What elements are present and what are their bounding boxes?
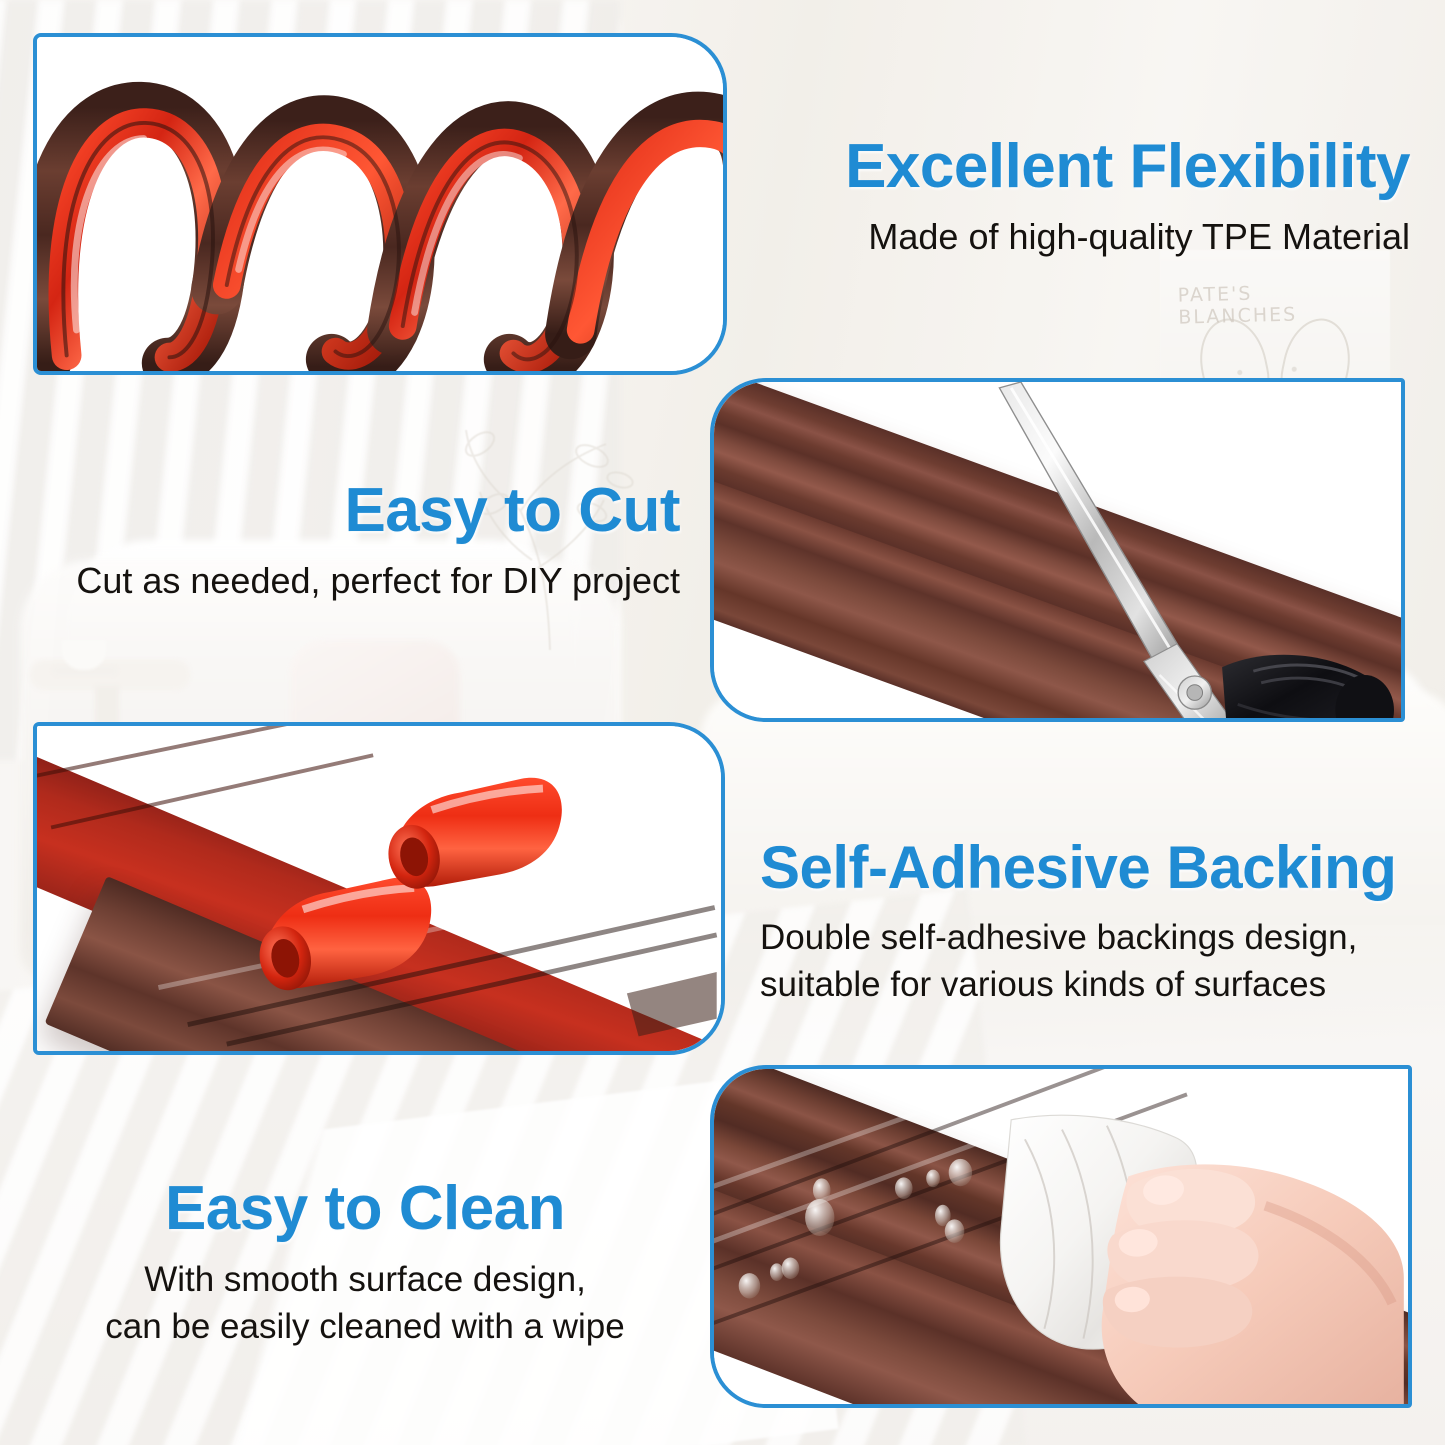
feature-description-line-1: With smooth surface design, — [40, 1258, 690, 1303]
feature-text-easy-to-cut: Easy to Cut Cut as needed, perfect for D… — [40, 480, 680, 604]
photo-adhesive-liner-strip — [37, 726, 721, 1051]
hand-with-wipe-illustration — [714, 1069, 1408, 1404]
photo-scissors-cutting-strip — [714, 382, 1401, 718]
feature-heading: Self-Adhesive Backing — [760, 838, 1420, 898]
feature-text-self-adhesive-backing: Self-Adhesive Backing Double self-adhesi… — [760, 838, 1420, 1008]
coiled-weatherstrip-illustration — [37, 37, 723, 371]
feature-description-line-2: suitable for various kinds of surfaces — [760, 963, 1420, 1008]
feature-image-easy-to-clean — [710, 1065, 1412, 1408]
water-droplets — [739, 1159, 972, 1299]
feature-image-self-adhesive-backing — [33, 722, 725, 1055]
feature-text-excellent-flexibility: Excellent Flexibility Made of high-quali… — [760, 136, 1410, 260]
feature-heading: Excellent Flexibility — [760, 136, 1410, 198]
photo-coiled-strip — [37, 37, 723, 371]
feature-text-easy-to-clean: Easy to Clean With smooth surface design… — [40, 1178, 690, 1350]
adhesive-roll-right — [383, 778, 562, 894]
liner-rolls-illustration — [37, 726, 721, 1051]
feature-description: Cut as needed, perfect for DIY project — [40, 558, 680, 604]
feature-heading: Easy to Cut — [40, 480, 680, 542]
feature-image-easy-to-cut — [710, 378, 1405, 722]
feature-heading: Easy to Clean — [40, 1178, 690, 1240]
photo-wiping-strip — [714, 1069, 1408, 1404]
scissors-illustration — [714, 382, 1401, 718]
feature-description-line-2: can be easily cleaned with a wipe — [40, 1305, 690, 1350]
hand — [1102, 1164, 1404, 1404]
feature-description-line-1: Double self-adhesive backings design, — [760, 916, 1420, 961]
feature-description: Made of high-quality TPE Material — [760, 214, 1410, 260]
feature-image-excellent-flexibility — [33, 33, 727, 375]
